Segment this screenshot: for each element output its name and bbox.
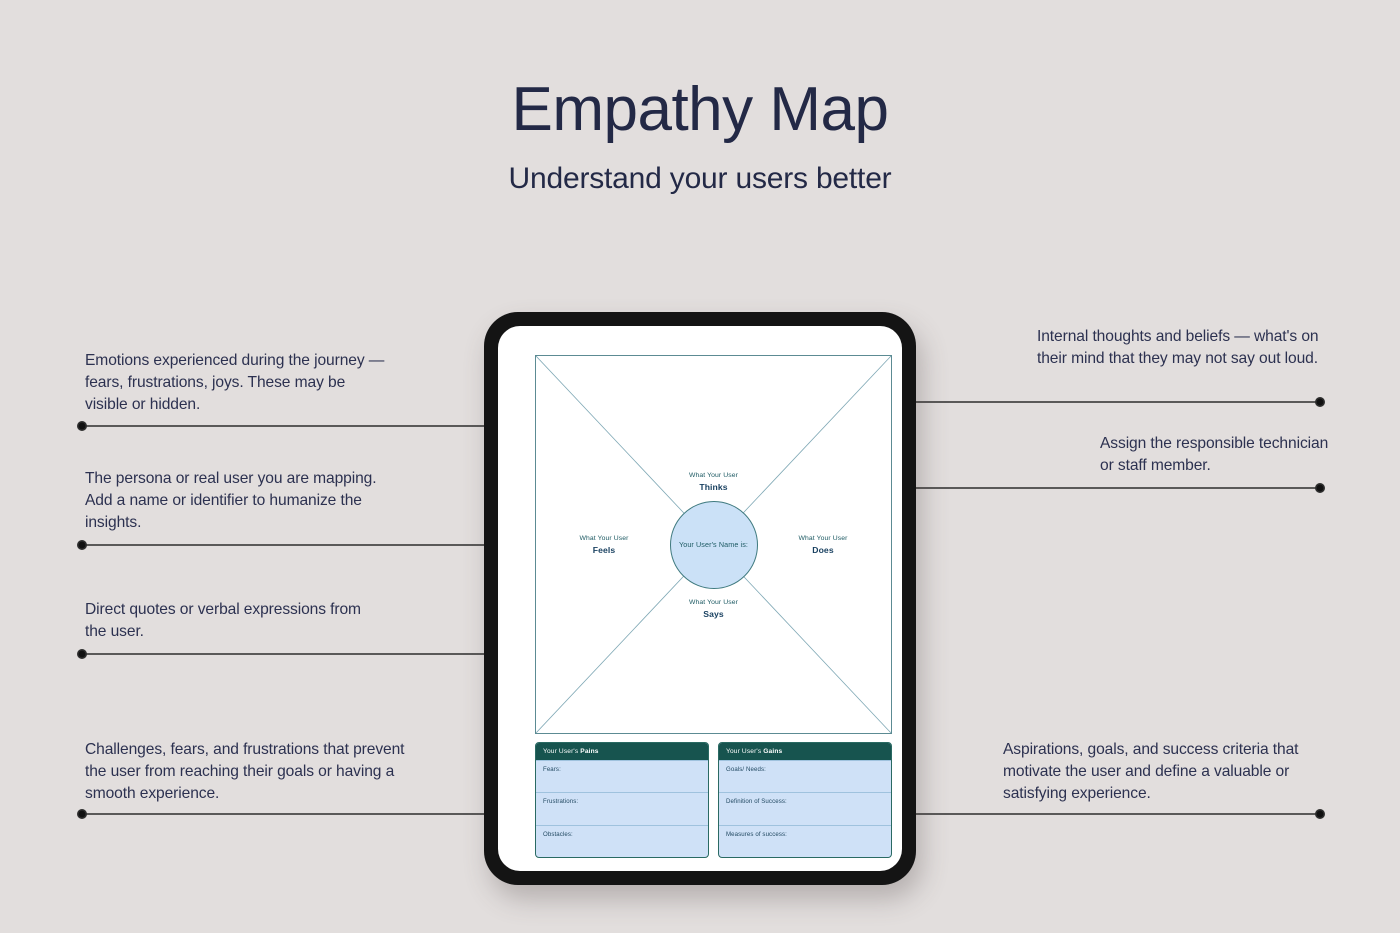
pains-row-fears[interactable]: Fears:	[536, 760, 708, 792]
pains-title-strong: Pains	[580, 748, 598, 755]
tablet-screen: What Your User Thinks What Your User Fee…	[498, 326, 902, 871]
gains-title-prefix: Your User's	[726, 748, 763, 755]
annotation-thinks-note: Internal thoughts and beliefs — what's o…	[1037, 326, 1327, 370]
quadrant-does-label: Does	[771, 544, 875, 557]
gains-row-definition[interactable]: Definition of Success:	[719, 792, 891, 824]
pains-card[interactable]: Your User's Pains Fears: Frustrations: O…	[535, 742, 709, 858]
pains-gains-section: Your User's Pains Fears: Frustrations: O…	[535, 742, 892, 858]
gains-row-goals[interactable]: Goals/ Needs:	[719, 760, 891, 792]
annotation-gains-note: Aspirations, goals, and success criteria…	[1003, 739, 1318, 805]
quadrant-feels: What Your User Feels	[552, 534, 656, 557]
quadrant-says-prefix: What Your User	[654, 598, 774, 608]
tablet-device: What Your User Thinks What Your User Fee…	[484, 312, 916, 885]
gains-card-header: Your User's Gains	[719, 743, 891, 760]
empathy-map-canvas[interactable]: What Your User Thinks What Your User Fee…	[535, 355, 892, 734]
quadrant-does-prefix: What Your User	[771, 534, 875, 544]
pains-card-header: Your User's Pains	[536, 743, 708, 760]
quadrant-thinks-label: Thinks	[654, 481, 774, 494]
quadrant-says: What Your User Says	[654, 598, 774, 621]
gains-card[interactable]: Your User's Gains Goals/ Needs: Definiti…	[718, 742, 892, 858]
quadrant-does: What Your User Does	[771, 534, 875, 557]
annotation-says-note: Direct quotes or verbal expressions from…	[85, 599, 385, 643]
quadrant-thinks: What Your User Thinks	[654, 471, 774, 494]
user-name-label: Your User's Name is:	[679, 540, 748, 549]
page-title: Empathy Map	[0, 76, 1400, 144]
quadrant-says-label: Says	[654, 608, 774, 621]
user-name-circle[interactable]: Your User's Name is:	[670, 501, 758, 589]
pains-row-obstacles[interactable]: Obstacles:	[536, 825, 708, 857]
gains-title-strong: Gains	[763, 748, 782, 755]
annotation-feels-note: Emotions experienced during the journey …	[85, 350, 385, 416]
annotation-does-note: Assign the responsible technician or sta…	[1100, 433, 1330, 477]
gains-row-measures[interactable]: Measures of success:	[719, 825, 891, 857]
page-subtitle: Understand your users better	[0, 162, 1400, 196]
empathy-map-poster: Empathy Map Understand your users better	[0, 0, 1400, 933]
page-header: Empathy Map Understand your users better	[0, 76, 1400, 196]
pains-title-prefix: Your User's	[543, 748, 580, 755]
annotation-pains-note: Challenges, fears, and frustrations that…	[85, 739, 405, 805]
quadrant-feels-prefix: What Your User	[552, 534, 656, 544]
quadrant-feels-label: Feels	[552, 544, 656, 557]
pains-row-frustrations[interactable]: Frustrations:	[536, 792, 708, 824]
annotation-persona-note: The persona or real user you are mapping…	[85, 468, 385, 534]
quadrant-thinks-prefix: What Your User	[654, 471, 774, 481]
